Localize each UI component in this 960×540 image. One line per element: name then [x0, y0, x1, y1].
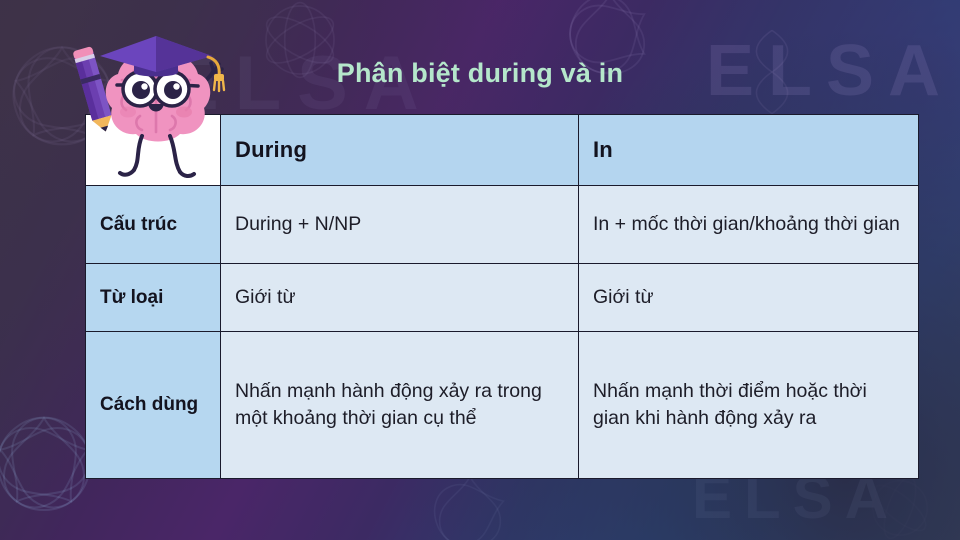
table-row: Cấu trúc During + N/NP In + mốc thời gia…: [86, 186, 919, 264]
mouth: [148, 104, 164, 112]
cell-in-cau-truc: In + mốc thời gian/khoảng thời gian: [579, 186, 919, 264]
comparison-table: During In Cấu trúc During + N/NP In + mố…: [85, 114, 919, 479]
column-header-in: In: [579, 115, 919, 186]
mascot-cell: [86, 115, 221, 186]
cell-during-cach-dung: Nhấn mạnh hành động xảy ra trong một kho…: [221, 332, 579, 479]
cell-in-cach-dung: Nhấn mạnh thời điểm hoặc thời gian khi h…: [579, 332, 919, 479]
slide-canvas: ELSA ELSA ELSA Phân biệt during và in Du…: [0, 0, 960, 540]
cell-in-tu-loai: Giới từ: [579, 264, 919, 332]
row-label-cach-dung: Cách dùng: [86, 332, 221, 479]
table-header-row: During In: [86, 115, 919, 186]
slide-title: Phân biệt during và in: [0, 58, 960, 89]
table-row: Từ loại Giới từ Giới từ: [86, 264, 919, 332]
table-row: Cách dùng Nhấn mạnh hành động xảy ra tro…: [86, 332, 919, 479]
cell-during-cau-truc: During + N/NP: [221, 186, 579, 264]
cell-during-tu-loai: Giới từ: [221, 264, 579, 332]
mascot-left-arm: [124, 94, 148, 112]
comparison-table-container: During In Cấu trúc During + N/NP In + mố…: [85, 114, 918, 478]
row-label-cau-truc: Cấu trúc: [86, 186, 221, 264]
column-header-during: During: [221, 115, 579, 186]
row-label-tu-loai: Từ loại: [86, 264, 221, 332]
